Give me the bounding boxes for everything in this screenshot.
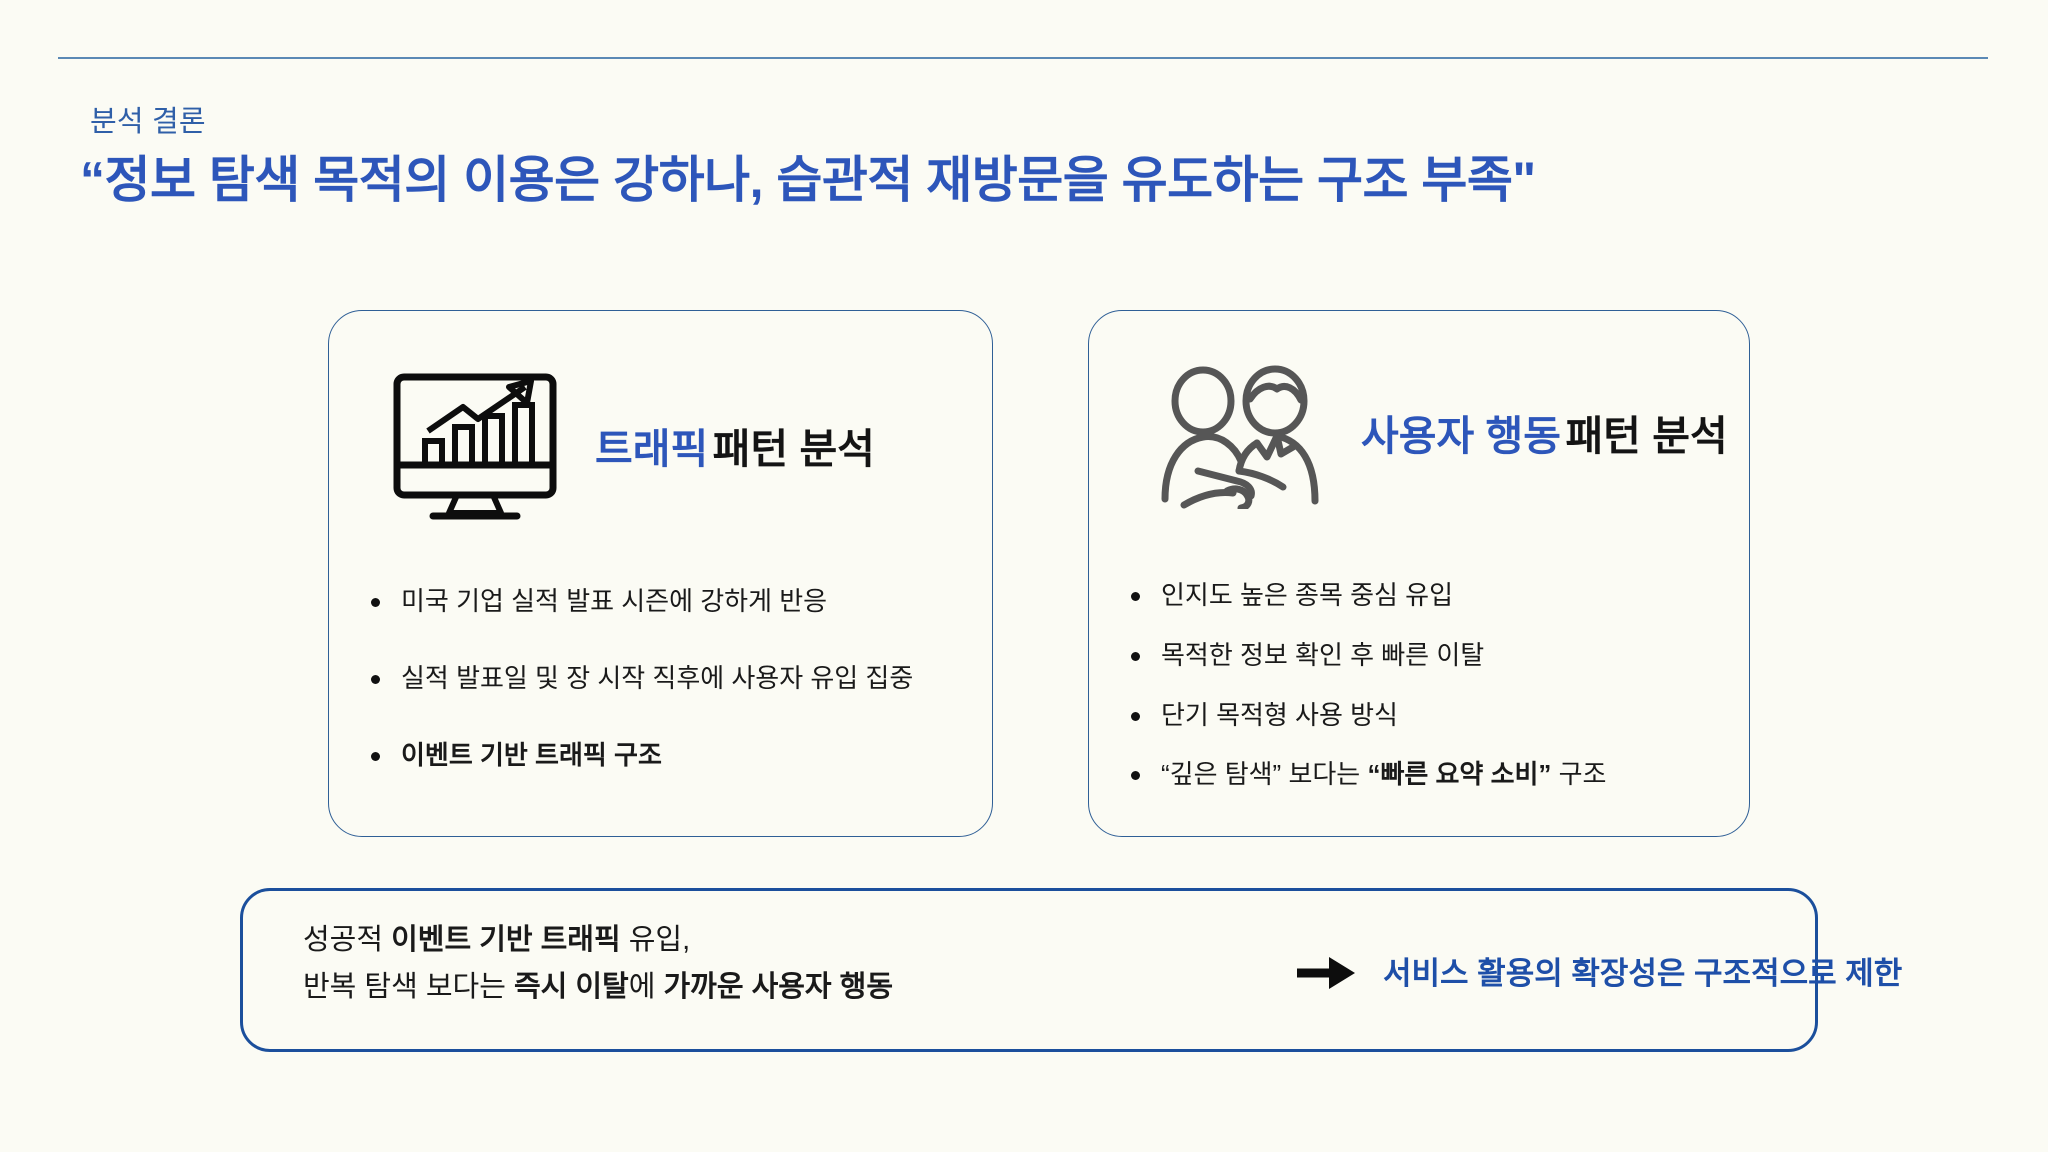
summary-line-2: 반복 탐색 보다는 즉시 이탈에 가까운 사용자 행동 — [303, 964, 893, 1011]
card-traffic-title-top: 트래픽 — [595, 426, 708, 472]
right-arrow-icon — [1295, 953, 1357, 998]
list-item: 단기 목적형 사용 방식 — [1125, 699, 1725, 733]
eyebrow-label: 분석 결론 — [90, 98, 206, 140]
summary-box: 성공적 이벤트 기반 트래픽 유입, 반복 탐색 보다는 즉시 이탈에 가까운 … — [240, 888, 1818, 1052]
summary-text: 성공적 이벤트 기반 트래픽 유입, 반복 탐색 보다는 즉시 이탈에 가까운 … — [303, 917, 893, 1011]
card-traffic-header: 트래픽 패턴 분석 — [389, 369, 875, 530]
list-item: 실적 발표일 및 장 시작 직후에 사용자 유입 집중 — [365, 662, 968, 696]
slide-root: 분석 결론 “정보 탐색 목적의 이용은 강하나, 습관적 재방문을 유도하는 … — [0, 0, 2048, 1152]
summary-conclusion: 서비스 활용의 확장성은 구조적으로 제한 — [1383, 948, 1902, 993]
card-traffic-title-bottom: 패턴 분석 — [713, 426, 875, 472]
card-traffic-bullets: 미국 기업 실적 발표 시즌에 강하게 반응 실적 발표일 및 장 시작 직후에… — [365, 585, 968, 815]
card-traffic-titles: 트래픽 패턴 분석 — [595, 426, 875, 474]
list-item: 이벤트 기반 트래픽 구조 — [365, 739, 968, 773]
card-behavior-titles: 사용자 행동 패턴 분석 — [1361, 413, 1728, 461]
top-divider — [58, 57, 1988, 59]
monitor-bar-chart-growth-icon — [389, 369, 561, 530]
list-item: 목적한 정보 확인 후 빠른 이탈 — [1125, 639, 1725, 673]
list-item: 미국 기업 실적 발표 시즌에 강하게 반응 — [365, 585, 968, 619]
list-item: 인지도 높은 종목 중심 유입 — [1125, 579, 1725, 613]
card-behavior-title-bottom: 패턴 분석 — [1565, 413, 1727, 459]
card-traffic-pattern: 트래픽 패턴 분석 미국 기업 실적 발표 시즌에 강하게 반응 실적 발표일 … — [328, 310, 993, 837]
card-behavior-header: 사용자 행동 패턴 분석 — [1151, 359, 1728, 514]
handshake-two-people-icon — [1151, 359, 1327, 514]
card-behavior-title-top: 사용자 행동 — [1361, 413, 1561, 459]
summary-line-1: 성공적 이벤트 기반 트래픽 유입, — [303, 917, 893, 964]
card-user-behavior-pattern: 사용자 행동 패턴 분석 인지도 높은 종목 중심 유입 목적한 정보 확인 후… — [1088, 310, 1750, 837]
card-behavior-bullets: 인지도 높은 종목 중심 유입 목적한 정보 확인 후 빠른 이탈 단기 목적형… — [1125, 579, 1725, 818]
list-item: “깊은 탐색” 보다는 “빠른 요약 소비” 구조 — [1125, 758, 1725, 792]
page-title: “정보 탐색 목적의 이용은 강하나, 습관적 재방문을 유도하는 구조 부족" — [80, 140, 1536, 212]
